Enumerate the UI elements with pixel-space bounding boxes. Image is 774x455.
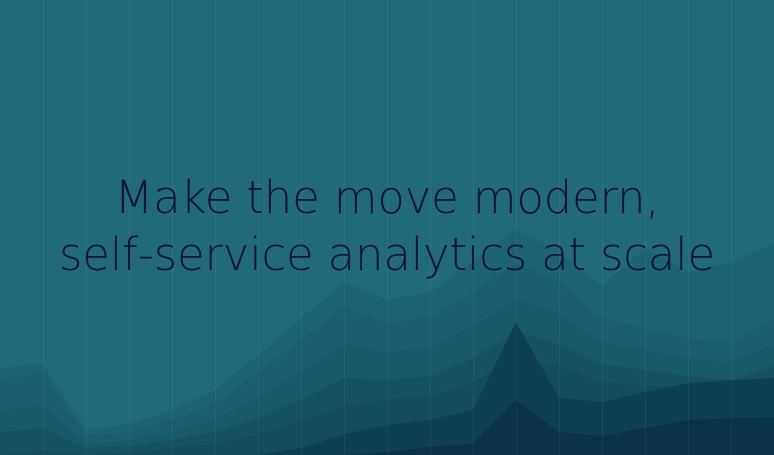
headline-block: Make the move modern, self-service analy… [37, 169, 737, 283]
headline-line-2: self-service analytics at scale [37, 226, 737, 283]
headline-line-1: Make the move modern, [37, 169, 737, 226]
page-title: Make the move modern, self-service analy… [37, 169, 737, 283]
title-slide: Make the move modern, self-service analy… [0, 0, 774, 455]
